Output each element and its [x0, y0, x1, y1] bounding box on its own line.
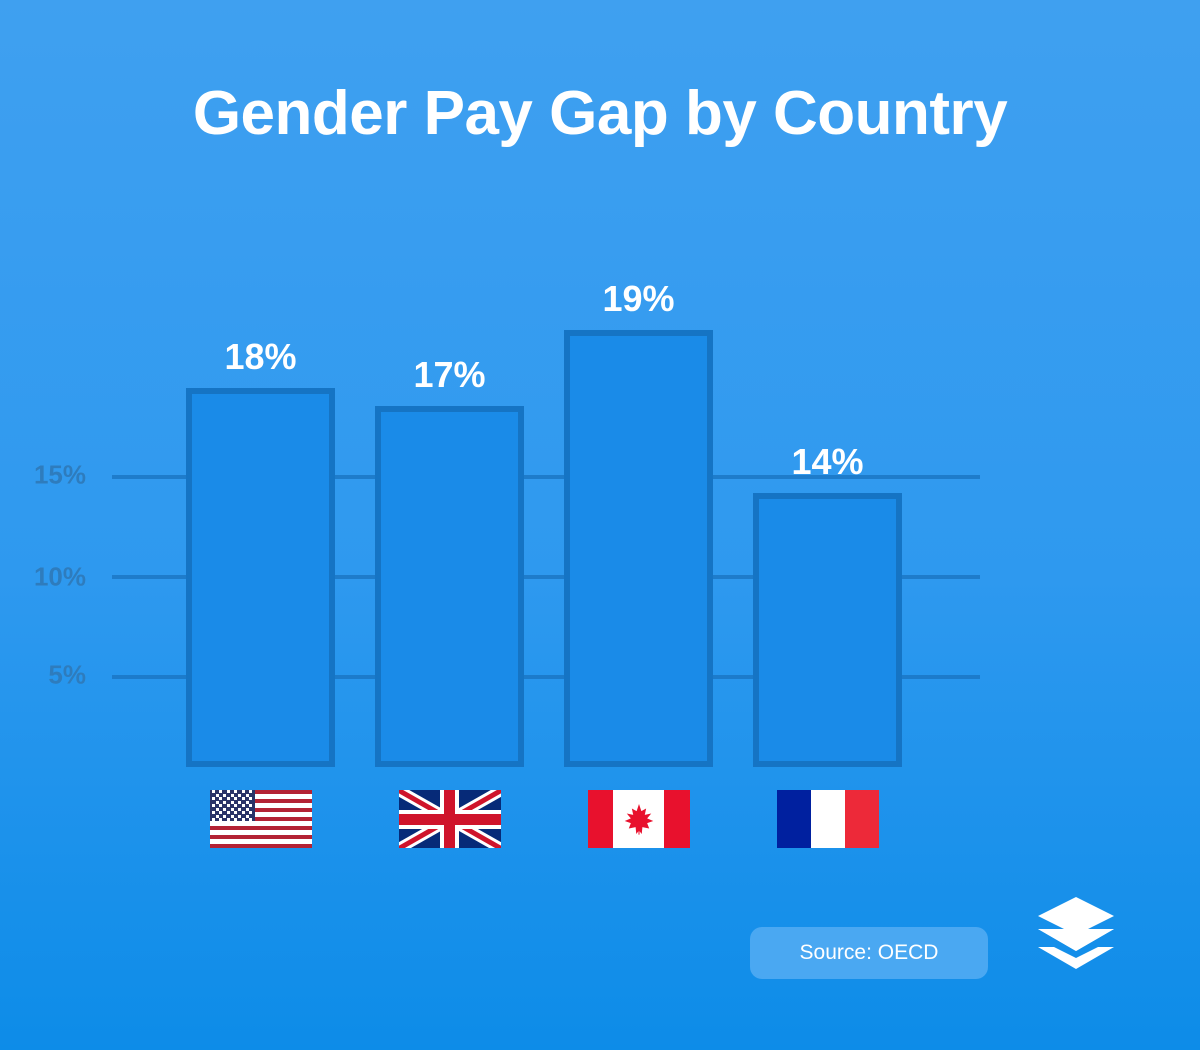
- bar-group: 18% 17% 19% 14%: [112, 230, 980, 767]
- flag-slot-france: [753, 790, 902, 848]
- flag-slot-canada: [564, 790, 713, 848]
- flag-united-kingdom-icon: [399, 790, 501, 848]
- category-flag-row: [112, 790, 980, 848]
- infographic-canvas: Gender Pay Gap by Country 15% 10% 5% 18%…: [0, 0, 1200, 1050]
- bar-united-states[interactable]: [186, 388, 335, 767]
- bar-canada[interactable]: [564, 330, 713, 767]
- bar-slot-canada: 19%: [564, 330, 713, 767]
- bar-united-kingdom[interactable]: [375, 406, 524, 767]
- y-tick-15: 15%: [34, 460, 86, 491]
- plot-area: 18% 17% 19% 14%: [112, 230, 980, 767]
- y-tick-10: 10%: [34, 562, 86, 593]
- bar-value-label-united-states: 18%: [224, 336, 296, 378]
- source-label: Source: OECD: [800, 941, 939, 965]
- bar-slot-france: 14%: [753, 493, 902, 767]
- flag-slot-united-states: [186, 790, 335, 848]
- bar-slot-united-states: 18%: [186, 388, 335, 767]
- bar-value-label-united-kingdom: 17%: [413, 354, 485, 396]
- layers-stack-icon: [1036, 895, 1116, 971]
- bar-slot-united-kingdom: 17%: [375, 406, 524, 767]
- page-title: Gender Pay Gap by Country: [0, 78, 1200, 149]
- y-axis-labels: 15% 10% 5%: [0, 230, 112, 767]
- flag-france-icon: [777, 790, 879, 848]
- flag-canada-icon: [588, 790, 690, 848]
- flag-united-states-icon: [210, 790, 312, 848]
- bar-value-label-canada: 19%: [602, 278, 674, 320]
- y-tick-5: 5%: [48, 660, 86, 691]
- flag-slot-united-kingdom: [375, 790, 524, 848]
- bar-france[interactable]: [753, 493, 902, 767]
- source-badge: Source: OECD: [750, 927, 988, 979]
- bar-value-label-france: 14%: [791, 441, 863, 483]
